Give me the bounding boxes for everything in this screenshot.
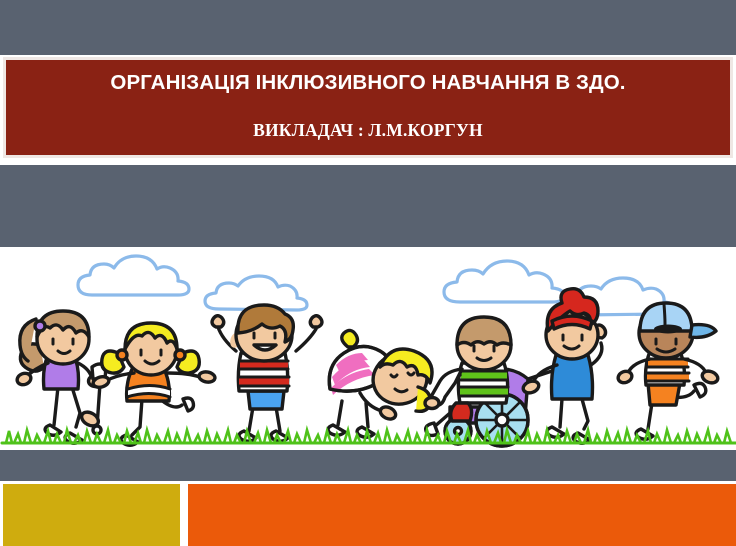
middle-slate-band: [0, 165, 736, 247]
lower-slate-band: [0, 450, 736, 481]
title-plaque: ОРГАНІЗАЦІЯ ІНКЛЮЗИВНОГО НАВЧАННЯ В ЗДО.…: [3, 57, 733, 158]
top-slate-band: [0, 0, 736, 55]
page-title: ОРГАНІЗАЦІЯ ІНКЛЮЗИВНОГО НАВЧАННЯ В ЗДО.: [110, 72, 625, 95]
footer-bar-orange: [188, 484, 736, 546]
presentation-slide: ОРГАНІЗАЦІЯ ІНКЛЮЗИВНОГО НАВЧАННЯ В ЗДО.…: [0, 0, 736, 546]
presenter-subtitle: ВИКЛАДАЧ : Л.М.КОРГУН: [253, 120, 483, 141]
footer-bar-gold: [3, 484, 180, 546]
children-illustration: [0, 247, 736, 450]
